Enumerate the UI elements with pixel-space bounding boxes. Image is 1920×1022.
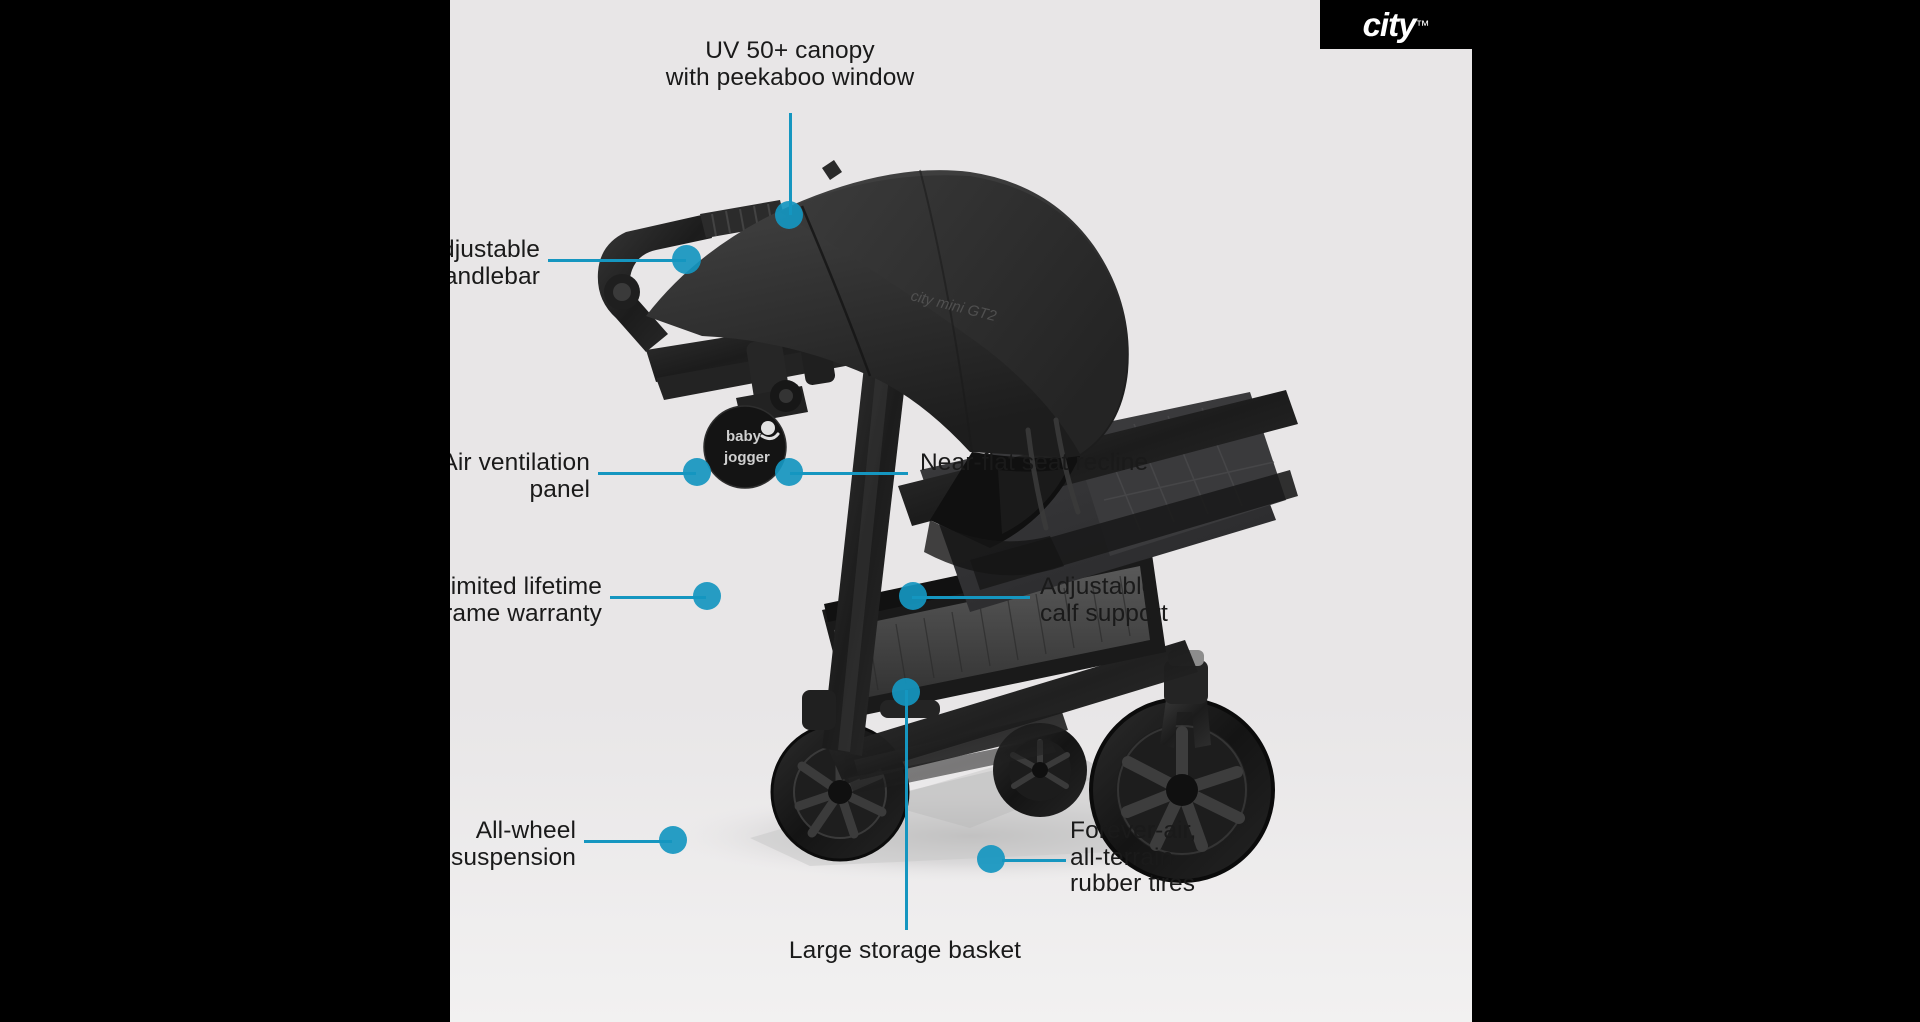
leader-uv-canopy: [789, 113, 792, 215]
callout-near-flat-seat-recline: Near-flat seat recline: [920, 450, 1250, 477]
screenshot-root: baby jogger: [0, 0, 1920, 1022]
city-brand-logo: city™: [1320, 0, 1472, 49]
callout-adjustable-handlebar: Adjustable handlebar: [450, 237, 540, 290]
trademark-icon: ™: [1415, 17, 1429, 33]
callout-frame-warranty: Limited lifetime frame warranty: [450, 574, 602, 627]
leader-adjustable-handlebar: [548, 259, 686, 262]
leader-frame-warranty: [610, 596, 706, 599]
marker-dot-seat-recline[interactable]: [775, 458, 803, 486]
marker-dot-adjustable-handlebar[interactable]: [672, 245, 701, 274]
leader-calf-support: [912, 596, 1030, 599]
leader-seat-recline: [790, 472, 908, 475]
marker-dot-frame-warranty[interactable]: [693, 582, 721, 610]
callout-air-ventilation-panel: Air ventilation panel: [450, 450, 590, 503]
callout-uv-canopy: UV 50+ canopy with peekaboo window: [635, 38, 945, 91]
marker-dot-calf-support[interactable]: [899, 582, 927, 610]
callout-all-wheel-suspension: All-wheel suspension: [450, 818, 576, 871]
product-infographic-canvas: baby jogger: [450, 0, 1472, 1022]
svg-text:jogger: jogger: [723, 449, 770, 466]
callout-forever-air-tires: Forever-air, all-terrain rubber tires: [1070, 818, 1300, 898]
leader-forever-air-tires: [1002, 859, 1066, 862]
callout-large-storage-basket: Large storage basket: [745, 938, 1065, 965]
stroller-product-photo: baby jogger: [450, 0, 1472, 1022]
svg-text:baby: baby: [726, 428, 762, 445]
leader-storage-basket: [905, 690, 908, 930]
leader-air-ventilation: [598, 472, 696, 475]
marker-dot-uv-canopy[interactable]: [775, 201, 803, 229]
logo-wordmark: city: [1363, 8, 1416, 41]
callout-adjustable-calf-support: Adjustable calf support: [1040, 574, 1270, 627]
baby-jogger-badge: baby jogger: [704, 406, 786, 488]
marker-dot-air-ventilation[interactable]: [683, 458, 711, 486]
marker-dot-all-wheel-suspension[interactable]: [659, 826, 687, 854]
marker-dot-storage-basket[interactable]: [892, 678, 920, 706]
marker-dot-forever-air-tires[interactable]: [977, 845, 1005, 873]
